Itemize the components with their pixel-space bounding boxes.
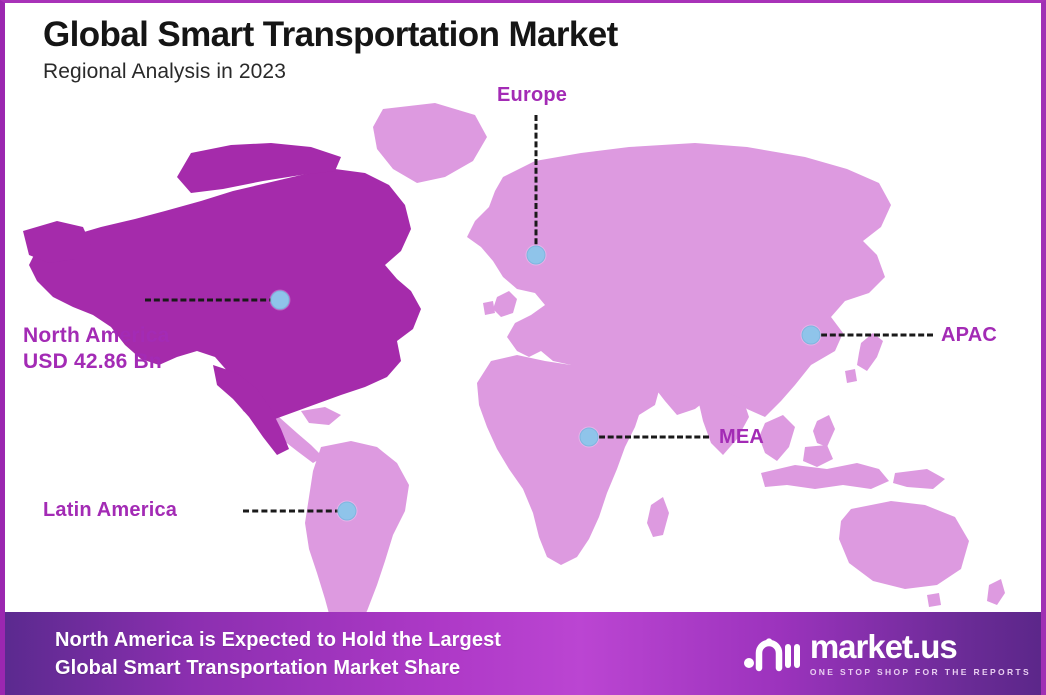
landmass-indonesia: [761, 463, 889, 489]
market-us-logo-icon: [743, 630, 801, 677]
label-north-america-name: North America: [23, 323, 170, 349]
page-title: Global Smart Transportation Market: [43, 15, 943, 54]
logo-tagline: ONE STOP SHOP FOR THE REPORTS: [810, 667, 1031, 677]
label-mea: MEA: [719, 425, 764, 450]
landmass-madagascar: [647, 497, 669, 537]
landmass-japan: [857, 333, 883, 371]
landmass-greenland: [373, 103, 487, 183]
footer-callout: North America is Expected to Hold the La…: [55, 626, 501, 683]
leader-line-latin-america: [243, 510, 341, 513]
landmass-british-isles: [493, 291, 517, 317]
landmass-japan-south: [845, 369, 857, 383]
landmass-indochina: [759, 415, 795, 461]
landmass-philippines: [813, 415, 835, 447]
map-landmasses: [23, 103, 1005, 617]
marker-north-america[interactable]: [271, 291, 290, 310]
label-europe: Europe: [497, 83, 567, 108]
market-us-logo-text: market.us ONE STOP SHOP FOR THE REPORTS: [810, 630, 1031, 677]
leader-line-north-america: [145, 299, 275, 302]
label-latin-america: Latin America: [43, 498, 177, 523]
leader-line-apac: [821, 334, 933, 337]
footer-callout-line2: Global Smart Transportation Market Share: [55, 654, 501, 682]
leader-line-europe: [535, 115, 538, 253]
marker-europe[interactable]: [527, 246, 546, 265]
landmass-new-zealand: [987, 579, 1005, 605]
landmass-tasmania: [927, 593, 941, 607]
marker-mea[interactable]: [580, 428, 599, 447]
landmass-south-america: [305, 441, 409, 617]
infographic-canvas: Global Smart Transportation Market Regio…: [0, 0, 1046, 695]
label-apac: APAC: [941, 323, 997, 348]
landmass-australia: [839, 501, 969, 589]
landmass-caribbean: [301, 407, 341, 425]
label-north-america-value: USD 42.86 Bn: [23, 349, 170, 375]
marker-latin-america[interactable]: [338, 502, 357, 521]
leader-line-mea: [599, 436, 709, 439]
landmass-new-guinea: [893, 469, 945, 489]
label-north-america: North America USD 42.86 Bn: [23, 323, 170, 376]
footer-banner: North America is Expected to Hold the La…: [5, 612, 1046, 695]
market-us-logo[interactable]: market.us ONE STOP SHOP FOR THE REPORTS: [743, 630, 1031, 677]
landmass-ireland: [483, 301, 495, 315]
marker-apac[interactable]: [802, 326, 821, 345]
landmass-borneo: [803, 445, 833, 467]
footer-callout-line1: North America is Expected to Hold the La…: [55, 626, 501, 654]
logo-wordmark: market.us: [810, 630, 1031, 663]
